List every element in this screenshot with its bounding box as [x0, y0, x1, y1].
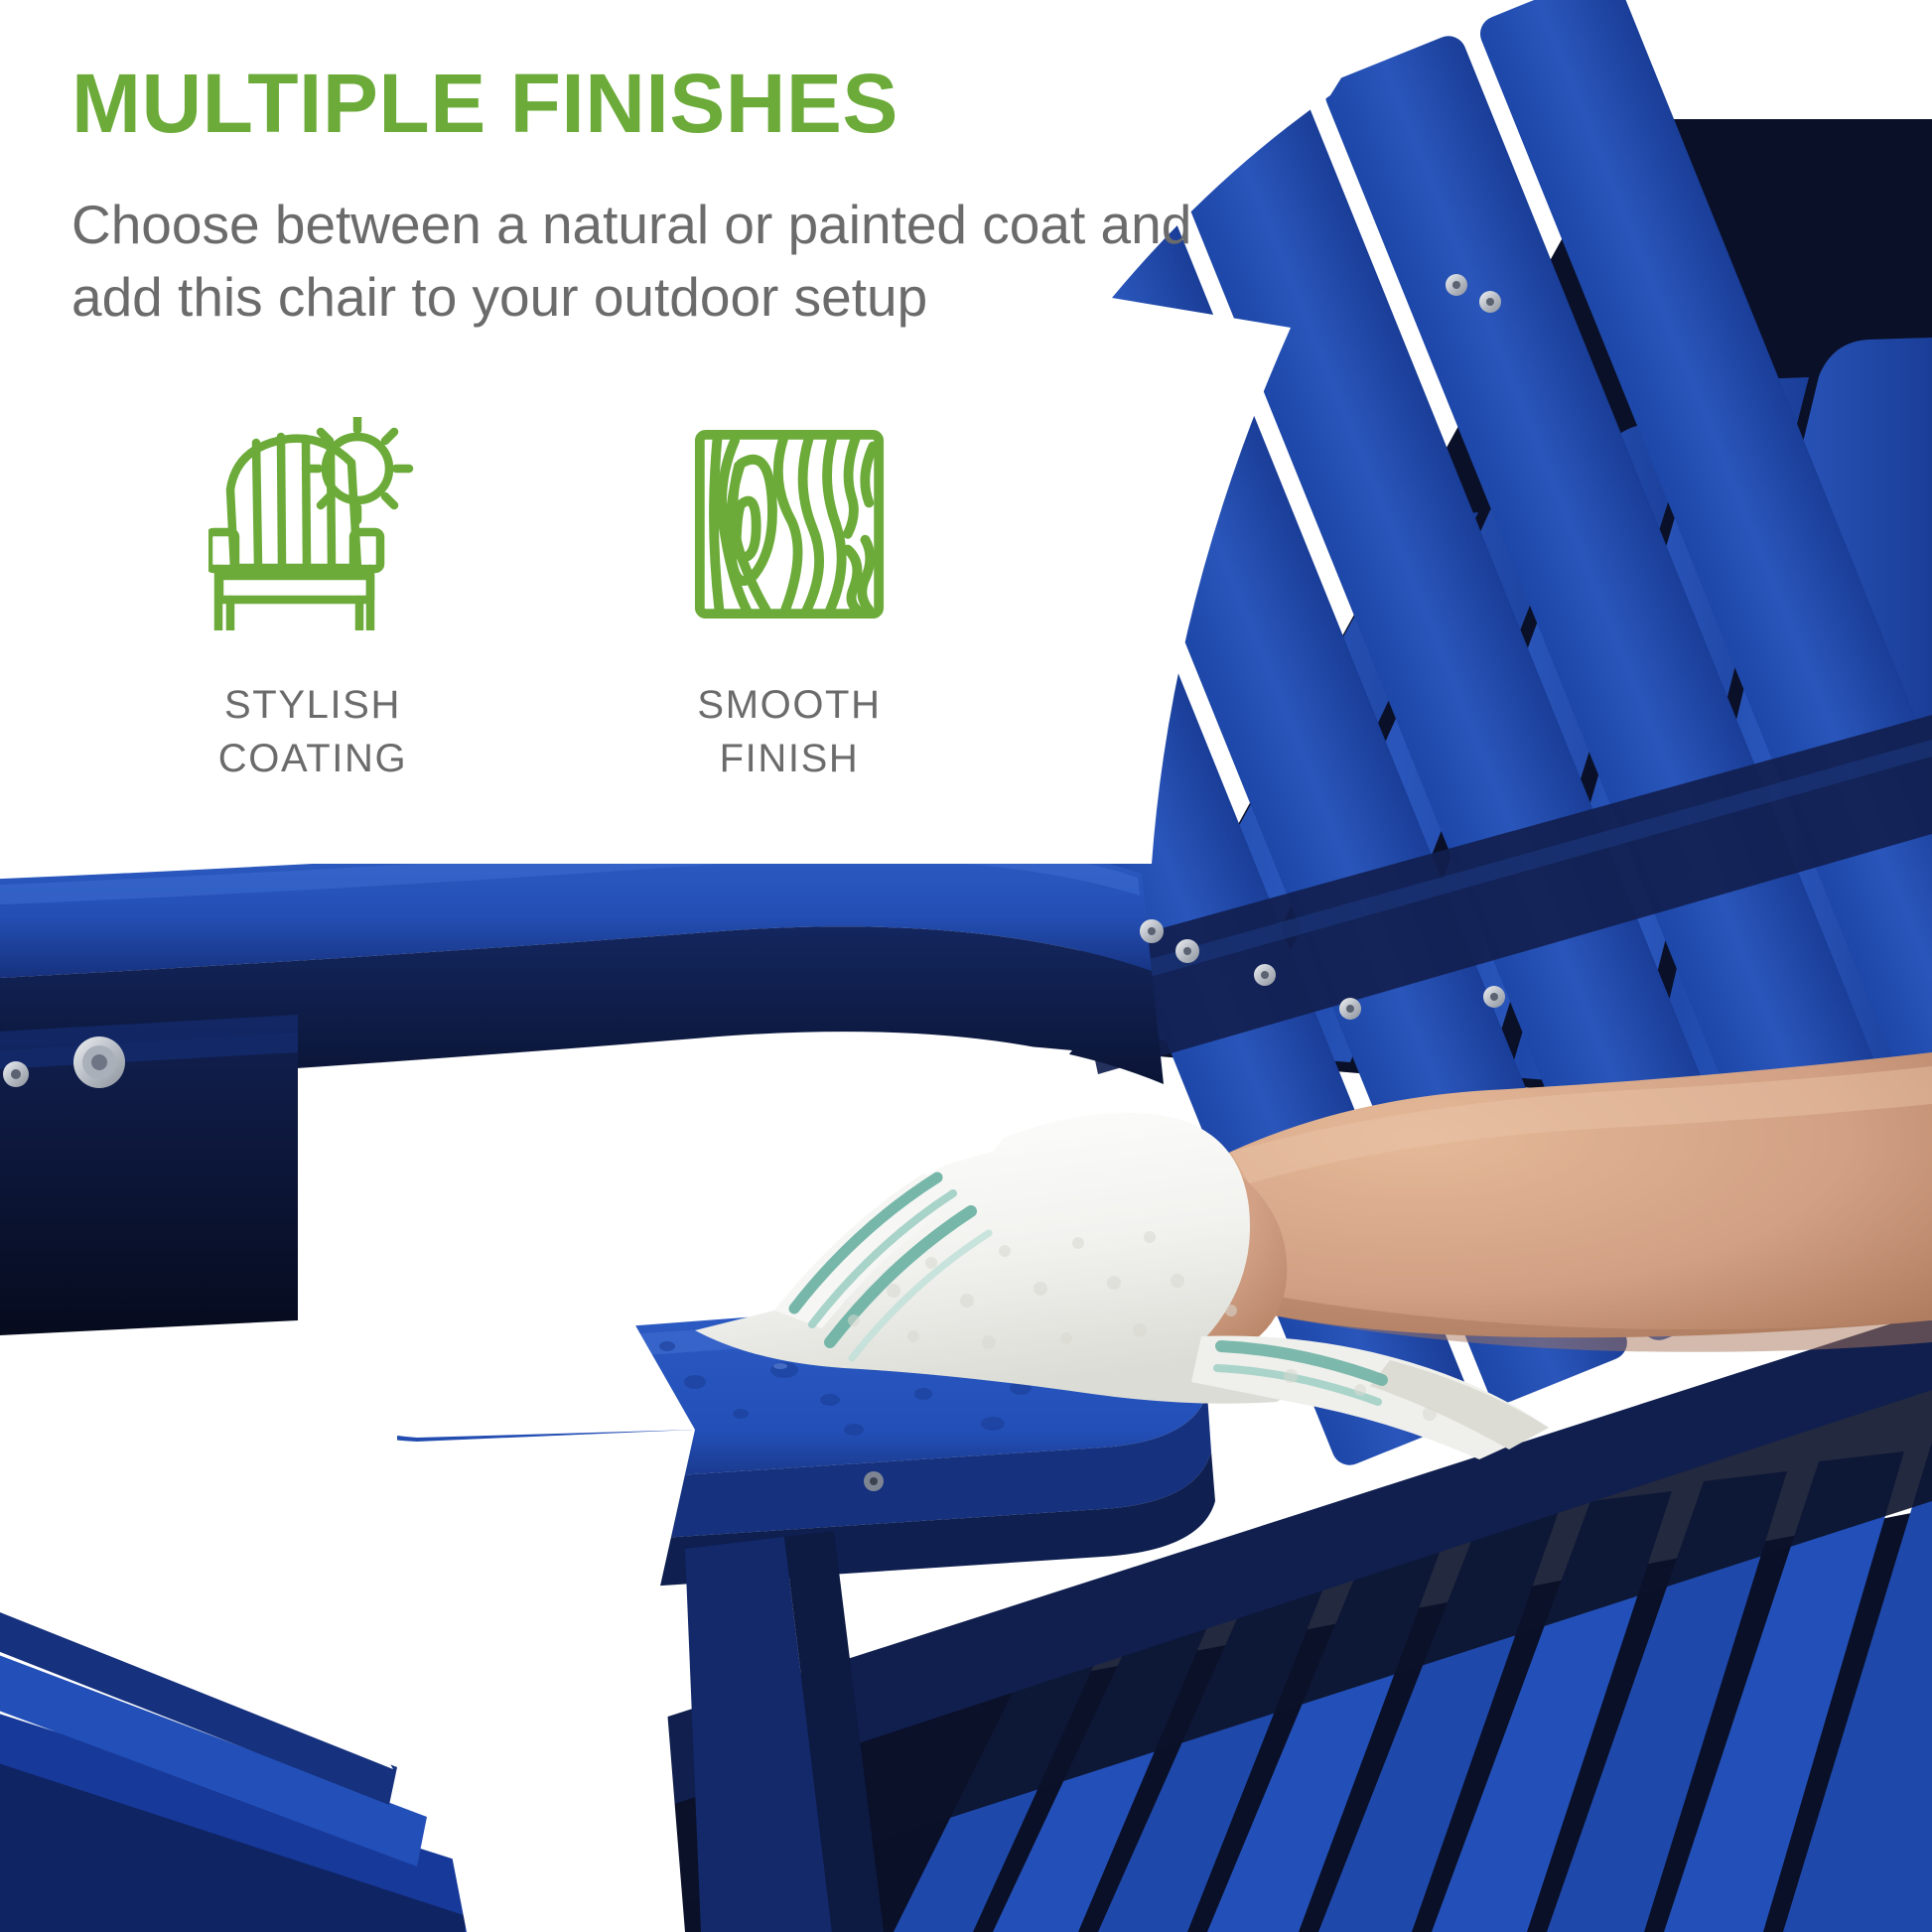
- feature-list: STYLISH COATING: [149, 417, 953, 785]
- page-subtitle: Choose between a natural or painted coat…: [71, 189, 1243, 333]
- page-title: MULTIPLE FINISHES: [71, 62, 898, 145]
- feature-item-stylish-coating: STYLISH COATING: [149, 417, 477, 785]
- feature-label-smooth-finish: SMOOTH FINISH: [697, 678, 881, 785]
- feature-label-stylish-coating: STYLISH COATING: [218, 678, 407, 785]
- feature-item-smooth-finish: SMOOTH FINISH: [625, 417, 953, 785]
- product-feature-banner: MULTIPLE FINISHES Choose between a natur…: [0, 0, 1932, 1932]
- wood-grain-icon: [685, 417, 894, 630]
- chair-with-sun-icon: [208, 417, 417, 630]
